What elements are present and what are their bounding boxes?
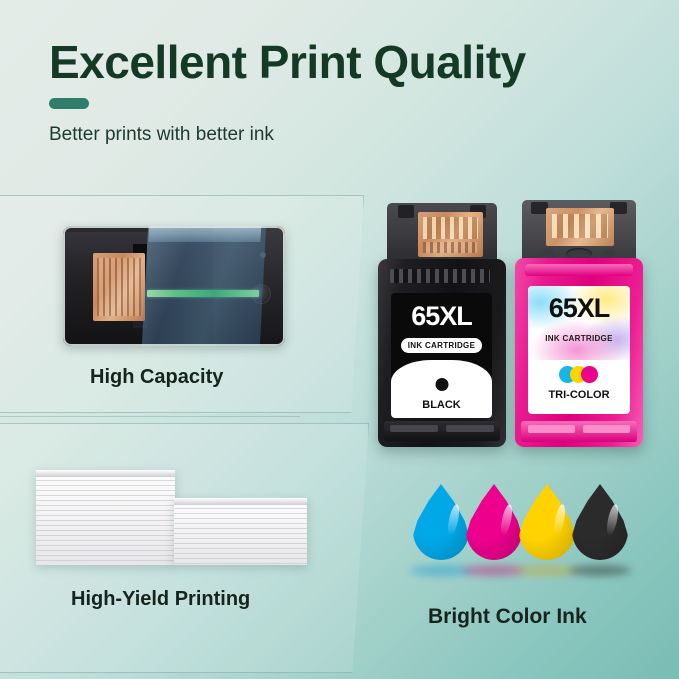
paper-stack-top-edge [36, 470, 175, 477]
cartridge-color-lip [525, 264, 633, 276]
droplet-shape-yellow [519, 484, 575, 560]
page-subtitle: Better prints with better ink [49, 124, 274, 146]
ink-droplet-black [572, 484, 628, 560]
droplet-shape-black [572, 484, 628, 560]
cartridge-tri-color: 65XL INK CARTRIDGE TRI-COLOR [515, 200, 643, 447]
paper-stack-tall [36, 470, 175, 565]
printhead-nozzle-strip [147, 290, 259, 297]
cartridge-color-hole-left [543, 249, 554, 258]
color-wheel-magenta [581, 366, 598, 383]
cartridge-black-type-pill: INK CARTRIDGE [401, 338, 482, 353]
droplet-shadow-black [569, 565, 631, 576]
printhead-protective-tape [142, 226, 267, 346]
cartridge-color-label: 65XL INK CARTRIDGE TRI-COLOR [528, 286, 630, 414]
cartridge-color-name: TRI-COLOR [528, 389, 630, 401]
cartridge-black-model: 65XL [391, 301, 492, 332]
feature-label-high-capacity: High Capacity [90, 366, 223, 389]
cartridge-black-foot [384, 421, 500, 441]
cartridge-black: 65XL INK CARTRIDGE BLACK [378, 203, 506, 447]
cartridge-black-top-shell [387, 203, 497, 267]
cartridge-color-top-shell [522, 200, 636, 263]
cartridge-black-vents [390, 269, 490, 283]
cartridge-color-hole-right [604, 249, 615, 258]
panel-divider [0, 416, 300, 417]
droplet-shape-magenta [466, 484, 522, 560]
cartridge-black-tab-left [398, 205, 414, 218]
feature-label-high-yield: High-Yield Printing [71, 588, 250, 611]
cartridge-color-type-pill: INK CARTRIDGE [539, 331, 619, 345]
cartridge-color-model: 65XL [528, 293, 630, 324]
page-title: Excellent Print Quality [49, 35, 526, 89]
paper-stack-top-edge [174, 498, 307, 505]
feature-label-bright-color: Bright Color Ink [428, 605, 587, 629]
cartridge-black-contact-chip [418, 212, 483, 257]
cartridge-black-name: BLACK [391, 399, 492, 411]
paper-stack-short [174, 498, 307, 565]
header: Excellent Print Quality Better prints wi… [0, 0, 679, 180]
accent-dash [49, 98, 89, 109]
cartridge-color-contact-chip [546, 208, 614, 246]
printhead-contacts [93, 253, 145, 321]
printhead-tape-highlight [148, 226, 261, 242]
ink-droplet-magenta [466, 484, 522, 560]
cartridge-black-label: 65XL INK CARTRIDGE BLACK [391, 293, 492, 418]
cartridge-color-foot [521, 421, 637, 442]
black-ink-dot-icon [435, 378, 448, 391]
droplet-shape-cyan [413, 484, 469, 560]
ink-droplet-cyan [413, 484, 469, 560]
ink-droplet-yellow [519, 484, 575, 560]
cartridge-black-lower-area: BLACK [391, 360, 492, 418]
printhead-photo [63, 226, 285, 346]
color-wheel-icon [559, 366, 599, 383]
product-feature-graphic: Excellent Print Quality Better prints wi… [0, 0, 679, 679]
